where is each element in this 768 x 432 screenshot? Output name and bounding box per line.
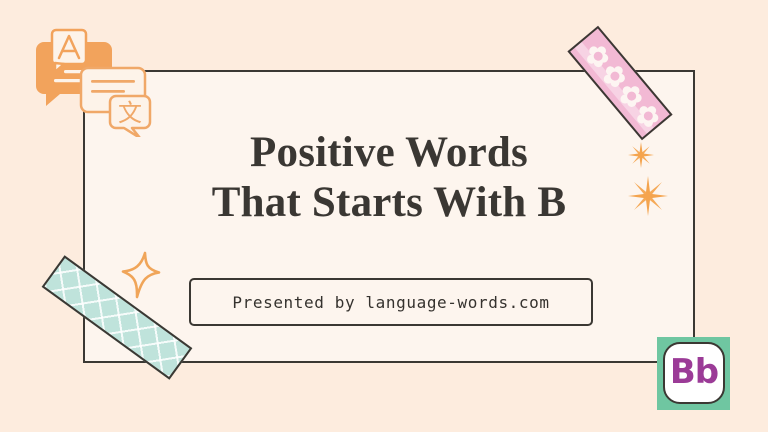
- content-frame: Positive Words That Starts With B Presen…: [83, 70, 695, 363]
- letter-b-badge-text: Bb: [670, 355, 718, 389]
- slide-canvas: Positive Words That Starts With B Presen…: [0, 0, 768, 432]
- four-point-star-outline-icon: [120, 250, 162, 305]
- translate-icon: 文: [36, 22, 156, 137]
- title-line-1: Positive Words: [85, 128, 693, 178]
- svg-text:文: 文: [118, 99, 142, 127]
- page-title: Positive Words That Starts With B: [85, 128, 693, 228]
- title-line-2: That Starts With B: [85, 178, 693, 228]
- sparkle-star-large-icon: [628, 176, 668, 221]
- letter-b-badge: Bb: [657, 337, 730, 410]
- presented-by-box: Presented by language-words.com: [189, 278, 593, 326]
- presented-by-label: Presented by language-words.com: [232, 293, 549, 312]
- sparkle-star-small-icon: [628, 142, 654, 173]
